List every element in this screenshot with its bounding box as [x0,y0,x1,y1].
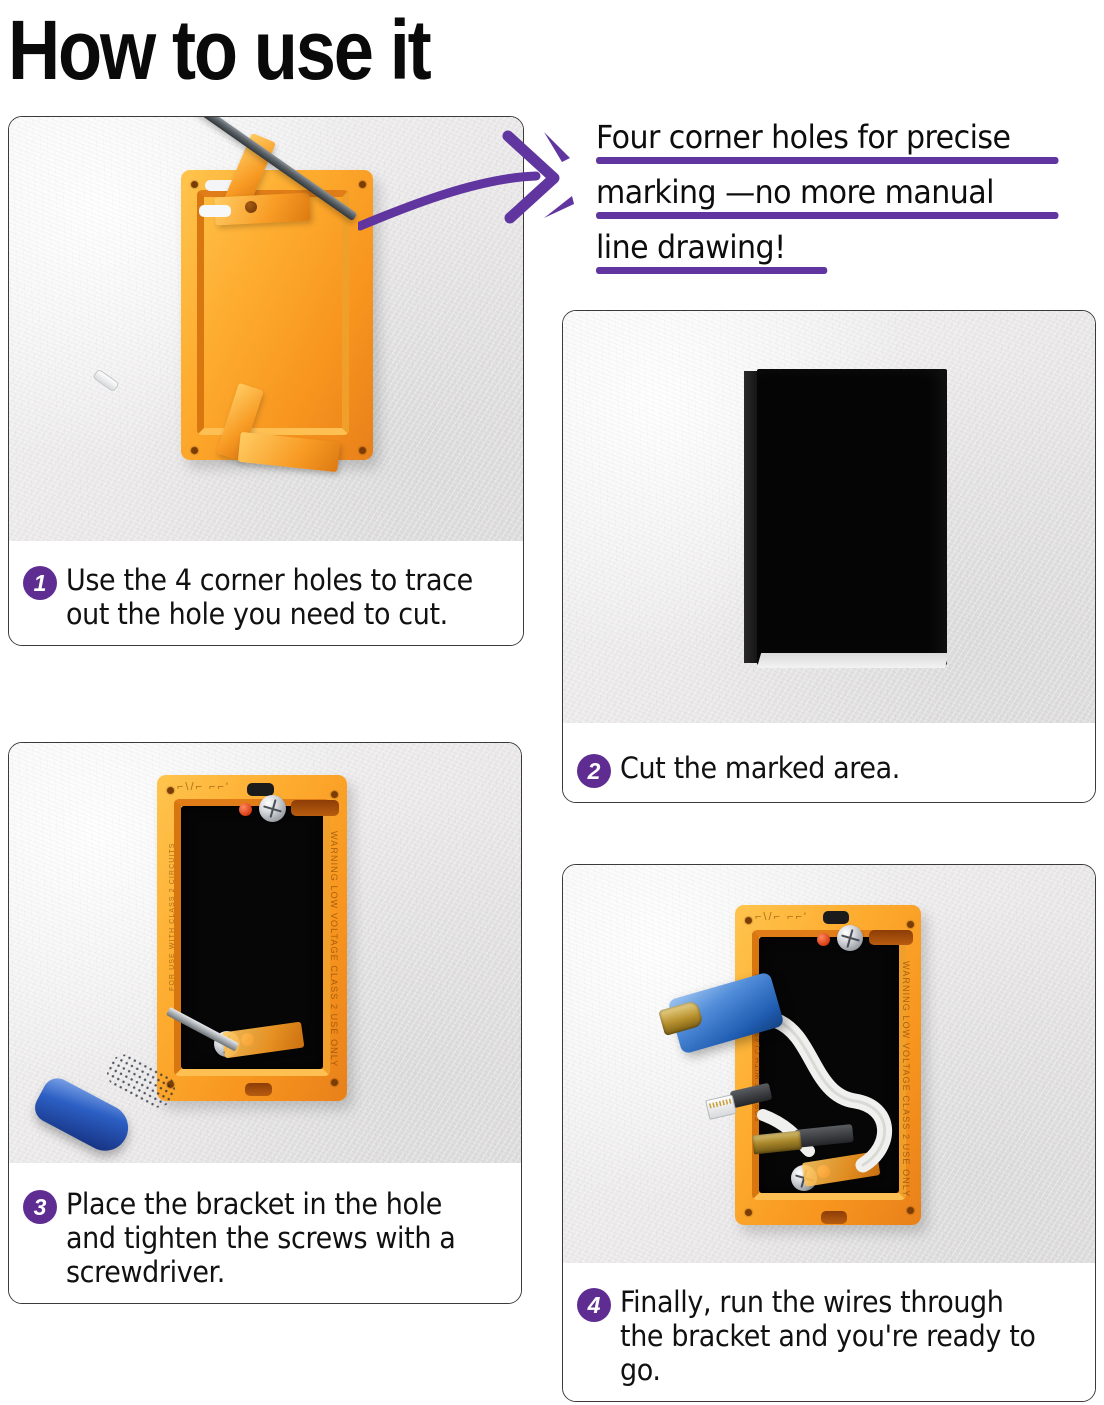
bracket-side-text: FOR USE WITH CLASS 2 CIRCUITS [169,842,176,991]
step-photo-2 [563,311,1095,723]
callout-block: Four corner holes for precise marking —n… [596,118,1096,283]
callout-line-1: Four corner holes for precise [596,118,1066,157]
callout-line-2: marking —no more manual [596,173,1066,212]
step-caption-3: 3 Place the bracket in the hole and tigh… [9,1175,521,1303]
page-title: How to use it [8,4,430,96]
callout-text-2: marking —no more manual [596,173,994,211]
step-card-3: WARNING LOW VOLTAGE CLASS 2 USE ONLY FOR… [8,742,522,1304]
step-badge-1: 1 [23,566,57,600]
callout-text-1: Four corner holes for precise [596,118,1010,156]
callout-underline-1 [596,157,1058,164]
cable-wires [563,865,1095,1263]
step-text-3: Place the bracket in the hole and tighte… [66,1187,476,1289]
step-photo-4: WARNING LOW VOLTAGE CLASS 2 USE ONLY FOR… [563,865,1095,1263]
step-caption-1: 1 Use the 4 corner holes to trace out th… [9,551,523,645]
step-badge-2: 2 [577,754,611,788]
step-badge-4: 4 [577,1288,611,1322]
step-photo-3: WARNING LOW VOLTAGE CLASS 2 USE ONLY FOR… [9,743,521,1163]
bracket-warning-text: WARNING LOW VOLTAGE CLASS 2 USE ONLY [329,831,339,1067]
callout-underline-2 [596,212,1058,219]
step-card-4: WARNING LOW VOLTAGE CLASS 2 USE ONLY FOR… [562,864,1096,1402]
callout-underline-3 [596,267,827,274]
step-text-4: Finally, run the wires through the brack… [620,1285,1049,1387]
curved-arrow-icon [358,118,598,248]
step-text-2: Cut the marked area. [620,751,1049,785]
step-text-1: Use the 4 corner holes to trace out the … [66,563,478,631]
step-caption-2: 2 Cut the marked area. [563,739,1095,802]
callout-text-3: line drawing! [596,228,786,266]
callout-line-3: line drawing! [596,228,1066,267]
step-caption-4: 4 Finally, run the wires through the bra… [563,1273,1095,1401]
step-card-2: 2 Cut the marked area. [562,310,1096,803]
infographic-root: How to use it [0,0,1104,1405]
bracket-logo-text: ⌐\/⌐ ⌐⌐' [177,781,230,793]
step-badge-3: 3 [23,1190,57,1224]
